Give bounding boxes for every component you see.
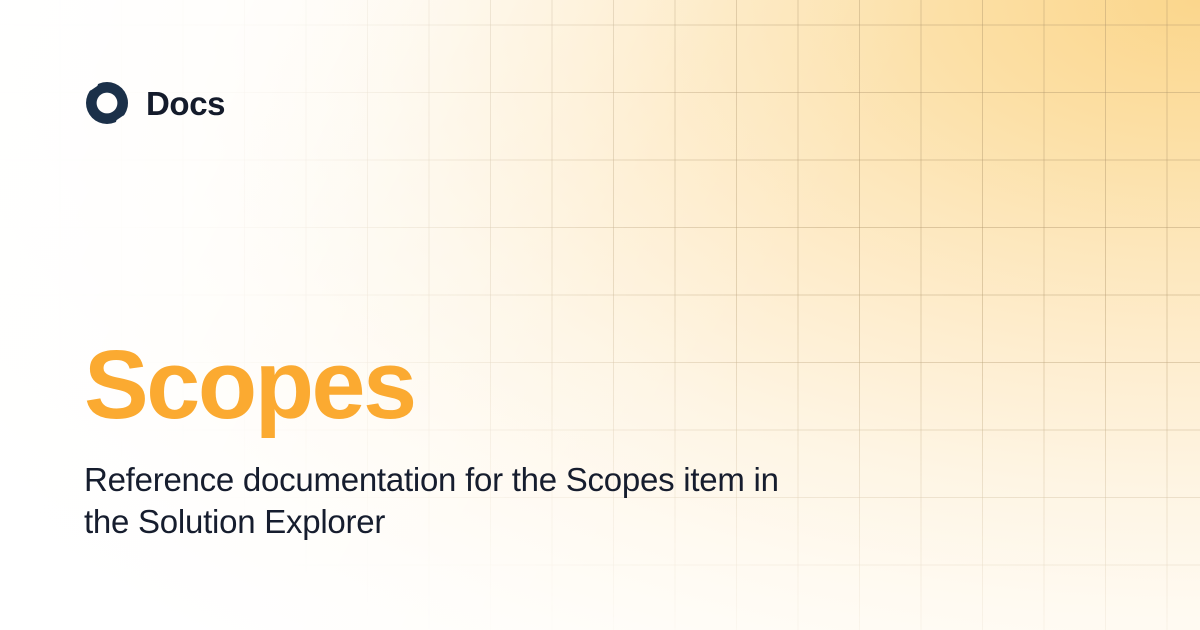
docs-social-card: Docs Scopes Reference documentation for … [0, 0, 1200, 630]
card-content: Docs Scopes Reference documentation for … [0, 0, 1200, 630]
hero-text-block: Scopes Reference documentation for the S… [84, 336, 904, 542]
ring-logo-icon [84, 80, 130, 126]
page-title: Scopes [84, 336, 904, 433]
page-subtitle: Reference documentation for the Scopes i… [84, 459, 804, 542]
brand-name-label: Docs [146, 87, 225, 120]
brand-lockup[interactable]: Docs [84, 80, 225, 126]
